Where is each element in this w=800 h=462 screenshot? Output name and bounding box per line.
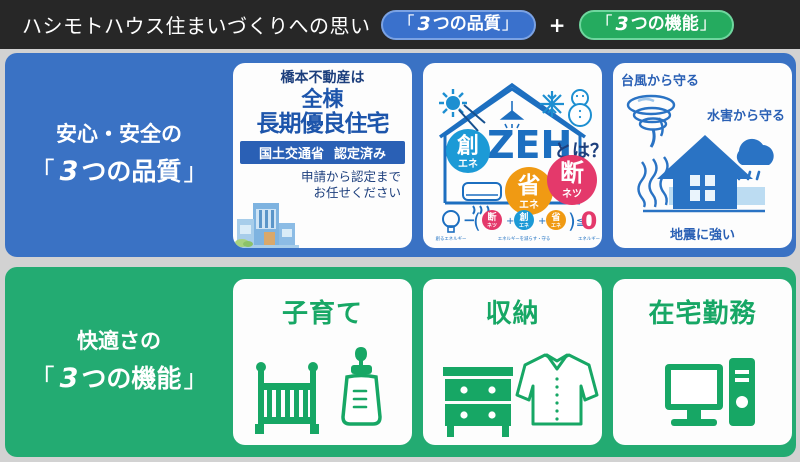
quality-row: 安心・安全の 「3つの品質」 橋本不動産は 全棟 長期優良住宅 国土交通省認定済…	[5, 53, 796, 257]
badge-function-bracket-close: 」	[699, 16, 718, 33]
function-label-bracket-open: 「	[28, 364, 57, 393]
seismic-wave-icon	[639, 157, 668, 207]
quality-label-bracket-close: 」	[181, 157, 210, 186]
page-title: ハシモトハウス住まいづくりへの思い	[22, 10, 371, 39]
svg-text:ネツ: ネツ	[562, 188, 582, 200]
svg-text:断: 断	[487, 211, 496, 223]
badge-quality-bracket-open: 「	[397, 16, 416, 33]
zaitaku-icons	[613, 344, 792, 439]
function-label-text: つの機能	[81, 364, 181, 393]
kosodate-title: 子育て	[233, 293, 412, 330]
function-card-shuunou[interactable]: 収納	[423, 279, 602, 445]
badge-quality-text: つの品質	[433, 16, 501, 33]
lightbulb-icon	[443, 211, 459, 232]
kosodate-content: 子育て	[233, 279, 412, 445]
quality-label-text: つの品質	[81, 157, 181, 186]
svg-text:(: (	[473, 209, 481, 233]
card1-note-line1: 申請から認定まで	[240, 169, 401, 185]
quality-label-line2: 「3つの品質」	[5, 154, 233, 190]
badge-function-bracket-open: 「	[595, 16, 614, 33]
svg-text:エネ: エネ	[519, 199, 539, 211]
snowman-icon	[569, 90, 591, 126]
shuunou-title: 収納	[423, 293, 602, 330]
card2-content: ZEH とは？ 創 エネ	[423, 63, 602, 248]
function-row: 快適さの 「3つの機能」 子育て	[5, 267, 796, 457]
formula-caption-left: 創るエネルギー	[436, 235, 467, 242]
crib-icon	[255, 362, 319, 434]
badge-function-number: 3	[614, 15, 631, 34]
tornado-icon	[628, 96, 674, 147]
svg-text:創: 創	[457, 134, 479, 159]
apartment-building-icon	[233, 201, 299, 247]
header-bar: ハシモトハウス住まいづくりへの思い 「3つの品質」 + 「3つの機能」	[0, 0, 800, 49]
dresser-icon	[443, 367, 513, 437]
svg-text:断: 断	[560, 159, 584, 187]
card1-line1: 橋本不動産は	[240, 71, 405, 86]
shirt-icon	[517, 355, 597, 424]
quality-label-number: 3	[57, 156, 82, 187]
quality-card-chouki-yuuryou[interactable]: 橋本不動産は 全棟 長期優良住宅 国土交通省認定済み 申請から認定まで お任せく…	[233, 63, 412, 248]
circle-shou-ene: 省 エネ	[505, 167, 553, 215]
zeh-diagram: ZEH とは？ 創 エネ	[423, 63, 602, 248]
card1-note: 申請から認定まで お任せください	[240, 169, 405, 201]
desktop-computer-icon	[665, 358, 755, 426]
svg-text:ネツ: ネツ	[487, 222, 497, 229]
function-card-kosodate[interactable]: 子育て	[233, 279, 412, 445]
air-conditioner-icon	[463, 183, 501, 214]
card3-illustration	[613, 63, 792, 248]
function-label-line2: 「3つの機能」	[5, 361, 233, 397]
card1-note-line2: お任せください	[240, 185, 401, 201]
svg-text:省: 省	[517, 173, 541, 199]
svg-text:エネ: エネ	[519, 222, 529, 229]
shuunou-content: 収納	[423, 279, 602, 445]
badge-function: 「3つの機能」	[579, 10, 734, 40]
badge-quality-number: 3	[416, 15, 433, 34]
formula-caption-mid: エネルギーを減らす・守る	[498, 235, 551, 242]
infographic-root: ハシモトハウス住まいづくりへの思い 「3つの品質」 + 「3つの機能」 安心・安…	[0, 0, 800, 462]
card1-badge-right: 認定済み	[334, 147, 386, 162]
baby-bottle-icon	[343, 347, 380, 424]
card1-badge-left: 国土交通省	[259, 147, 324, 162]
function-cards: 子育て	[233, 279, 800, 445]
svg-text:+: +	[538, 216, 546, 227]
badge-quality-bracket-close: 」	[501, 16, 520, 33]
svg-text:): )	[568, 209, 576, 233]
card1-content: 橋本不動産は 全棟 長期優良住宅 国土交通省認定済み 申請から認定まで お任せく…	[233, 63, 412, 202]
badge-function-text: つの機能	[631, 16, 699, 33]
zeh-formula: − ( 断 ネツ + 創 エネ + 省 エネ	[436, 207, 600, 242]
svg-text:エネ: エネ	[458, 158, 478, 170]
svg-text:エネ: エネ	[551, 222, 561, 229]
card1-line2: 全棟	[240, 87, 405, 111]
shuunou-icons	[423, 339, 602, 439]
function-label-line1: 快適さの	[5, 327, 233, 355]
quality-card-zeh[interactable]: ZEH とは？ 創 エネ	[423, 63, 602, 248]
svg-text:+: +	[506, 216, 514, 227]
quality-card-disaster[interactable]: 台風から守る 水害から守る 地震に強い	[613, 63, 792, 248]
function-label-bracket-close: 」	[181, 364, 210, 393]
zaitaku-title: 在宅勤務	[613, 293, 792, 330]
quality-cards: 橋本不動産は 全棟 長期優良住宅 国土交通省認定済み 申請から認定まで お任せく…	[233, 63, 800, 248]
svg-text:創: 創	[518, 211, 528, 223]
kosodate-icons	[233, 339, 412, 439]
circle-sou-ene: 創 エネ	[446, 129, 490, 173]
card3-content: 台風から守る 水害から守る 地震に強い	[613, 63, 792, 248]
svg-text:0: 0	[581, 207, 598, 235]
formula-caption-right: エネルギー	[578, 236, 600, 242]
plus-sign: +	[546, 13, 569, 37]
card1-certification-badge: 国土交通省認定済み	[240, 141, 405, 164]
quality-label-line1: 安心・安全の	[5, 120, 233, 148]
badge-quality: 「3つの品質」	[381, 10, 536, 40]
function-card-zaitaku-kinmu[interactable]: 在宅勤務	[613, 279, 792, 445]
zaitaku-content: 在宅勤務	[613, 279, 792, 445]
function-label-number: 3	[57, 363, 82, 394]
function-row-label: 快適さの 「3つの機能」	[5, 327, 233, 398]
circle-dan-netsu: 断 ネツ	[547, 155, 597, 205]
snowflake-icon	[540, 91, 564, 117]
quality-label-bracket-open: 「	[28, 157, 57, 186]
quality-row-label: 安心・安全の 「3つの品質」	[5, 120, 233, 191]
svg-text:省: 省	[550, 211, 560, 223]
card1-line3: 長期優良住宅	[240, 112, 405, 137]
